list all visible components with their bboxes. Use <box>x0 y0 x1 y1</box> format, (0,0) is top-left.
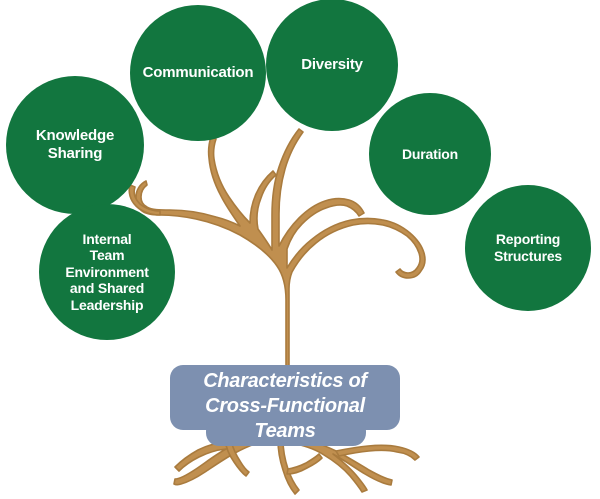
leaf-node-internal-team-environment[interactable]: Internal Team Environment and Shared Lea… <box>39 204 175 340</box>
root-left <box>174 440 270 485</box>
page-title: Characteristics of Cross-Functional Team… <box>170 369 400 443</box>
leaf-node-diversity[interactable]: Diversity <box>266 0 398 131</box>
leaf-node-communication[interactable]: Communication <box>130 5 266 141</box>
leaf-label-communication: Communication <box>137 64 260 82</box>
leaf-node-duration[interactable]: Duration <box>369 93 491 215</box>
tree-diagram: Knowledge Sharing Communication Diversit… <box>0 0 600 499</box>
root-center-branch <box>287 454 322 474</box>
leaf-node-knowledge-sharing[interactable]: Knowledge Sharing <box>6 76 144 214</box>
leaf-label-knowledge-sharing: Knowledge Sharing <box>30 127 120 162</box>
leaf-label-diversity: Diversity <box>295 56 369 74</box>
leaf-label-duration: Duration <box>396 146 464 163</box>
leaf-label-internal-team-environment: Internal Team Environment and Shared Lea… <box>59 231 154 314</box>
leaf-label-reporting-structures: Reporting Structures <box>488 231 568 264</box>
leaf-node-reporting-structures[interactable]: Reporting Structures <box>465 185 591 311</box>
